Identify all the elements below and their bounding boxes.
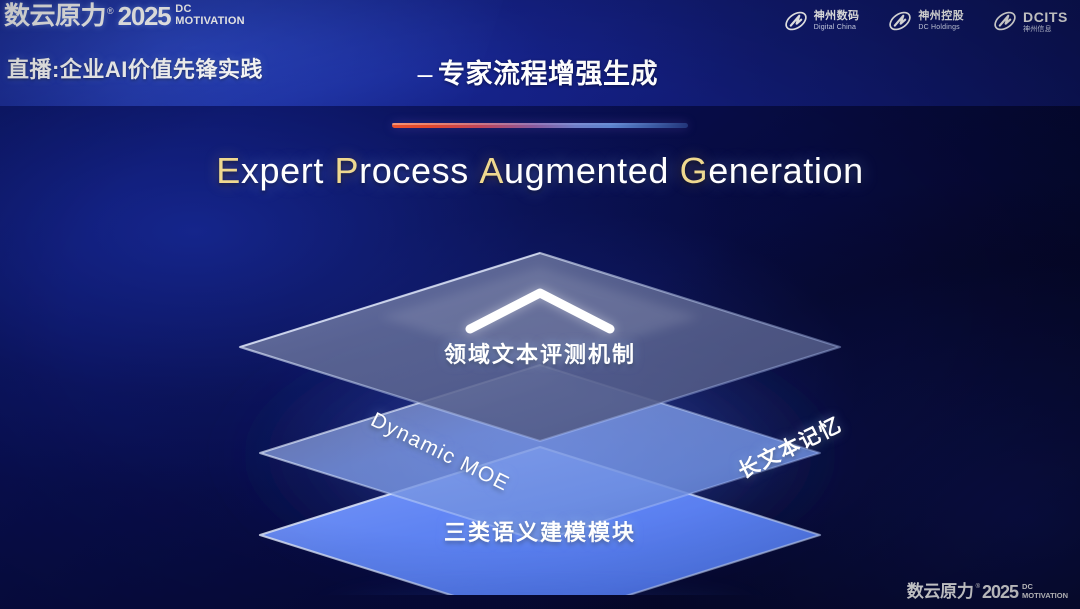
brand-logo: 数云原力 ® 2025 DC MOTIVATION (6, 3, 245, 29)
brand-year: 2025 (118, 3, 171, 29)
partner-name-en: 神州信息 (1023, 26, 1068, 33)
brand-registered-mark: ® (107, 5, 114, 17)
slide-watermark-logo: 数云原力 ® 2025 DC MOTIVATION (907, 583, 1068, 601)
headline-cap-e: E (216, 150, 241, 191)
partner-logo-dcits: DCITS 神州信息 (992, 8, 1068, 34)
partner-name-cn: 神州数码 (814, 11, 860, 22)
swirl-icon (887, 8, 913, 34)
live-broadcast-strap: 直播:企业AI价值先锋实践 (7, 52, 263, 84)
slide-header-band: 数云原力 ® 2025 DC MOTIVATION 直播:企业AI价值先锋实践 … (0, 0, 1080, 106)
headline-cap-g: G (680, 150, 709, 191)
brand-motivation-label: MOTIVATION (175, 16, 244, 27)
presentation-slide: 数云原力 ® 2025 DC MOTIVATION 直播:企业AI价值先锋实践 … (0, 0, 1080, 609)
partner-logo-digital-china: 神州数码 Digital China (783, 8, 860, 34)
partner-logo-dc-holdings: 神州控股 DC Holdings (887, 8, 964, 34)
watermark-name-cn: 数云原力 (907, 583, 974, 601)
english-headline: Expert Process Augmented Generation (0, 150, 1080, 192)
header-title-acronym: EPAG (336, 59, 413, 89)
partner-name-en: Digital China (814, 24, 860, 31)
slide-header-title: EPAG–专家流程增强生成 (336, 52, 658, 91)
headline-rest-process: rocess (359, 150, 469, 191)
partner-logo-group: 神州数码 Digital China 神州控股 DC Holdings (783, 8, 1068, 34)
header-title-chinese: 专家流程增强生成 (438, 59, 658, 89)
header-title-dash: – (413, 59, 439, 89)
layer-stack-graphic (0, 215, 1080, 595)
partner-name-en: DC Holdings (918, 24, 964, 31)
headline-rest-generation: eneration (708, 150, 864, 191)
brand-dc-motivation: DC MOTIVATION (175, 4, 244, 27)
watermark-dc-label: DC (1022, 583, 1068, 591)
layered-architecture-diagram: 领域文本评测机制 Dynamic MOE 长文本记忆 三类语义建模模块 (0, 215, 1080, 595)
watermark-motivation-label: MOTIVATION (1022, 592, 1068, 600)
gradient-divider (392, 123, 688, 128)
headline-rest-expert: xpert (241, 150, 324, 191)
watermark-year: 2025 (982, 583, 1018, 601)
partner-name-cn: 神州控股 (918, 11, 964, 22)
partner-name-cn: DCITS (1023, 10, 1068, 24)
watermark-dc-motivation: DC MOTIVATION (1022, 583, 1068, 599)
headline-rest-augmented: ugmented (504, 150, 669, 191)
headline-cap-a: A (479, 150, 504, 191)
brand-dc-label: DC (175, 4, 244, 15)
headline-cap-p: P (335, 150, 360, 191)
brand-name-cn: 数云原力 (4, 3, 106, 29)
swirl-icon (992, 8, 1018, 34)
swirl-icon (783, 8, 809, 34)
watermark-registered-mark: ® (976, 583, 980, 592)
